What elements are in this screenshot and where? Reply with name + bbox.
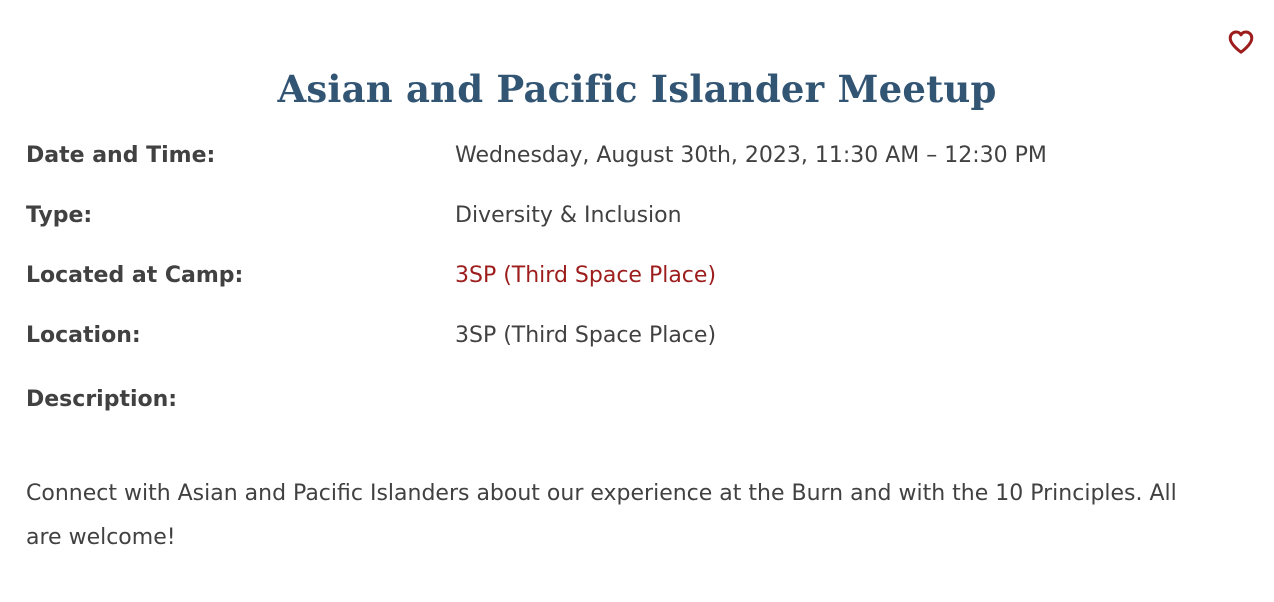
event-detail-page: Asian and Pacific Islander Meetup Date a… <box>0 0 1274 602</box>
detail-row-located-at-camp: Located at Camp: 3SP (Third Space Place) <box>26 262 1236 322</box>
detail-label-type: Type: <box>26 202 455 230</box>
favorite-heart-button[interactable] <box>1224 26 1258 58</box>
event-details-list: Date and Time: Wednesday, August 30th, 2… <box>26 142 1236 382</box>
detail-label-date-and-time: Date and Time: <box>26 142 455 170</box>
detail-row-type: Type: Diversity & Inclusion <box>26 202 1236 262</box>
description-section: Description: Connect with Asian and Paci… <box>26 386 1216 560</box>
camp-link[interactable]: 3SP (Third Space Place) <box>455 262 1236 290</box>
page-title: Asian and Pacific Islander Meetup <box>0 66 1274 112</box>
description-label: Description: <box>26 386 1216 414</box>
detail-row-date-and-time: Date and Time: Wednesday, August 30th, 2… <box>26 142 1236 202</box>
detail-row-location: Location: 3SP (Third Space Place) <box>26 322 1236 382</box>
detail-value-date-and-time: Wednesday, August 30th, 2023, 11:30 AM –… <box>455 142 1236 170</box>
detail-value-type: Diversity & Inclusion <box>455 202 1236 230</box>
description-text: Connect with Asian and Pacific Islanders… <box>26 472 1216 560</box>
heart-outline-icon <box>1228 30 1254 54</box>
detail-label-location: Location: <box>26 322 455 350</box>
detail-value-location: 3SP (Third Space Place) <box>455 322 1236 350</box>
detail-label-located-at-camp: Located at Camp: <box>26 262 455 290</box>
